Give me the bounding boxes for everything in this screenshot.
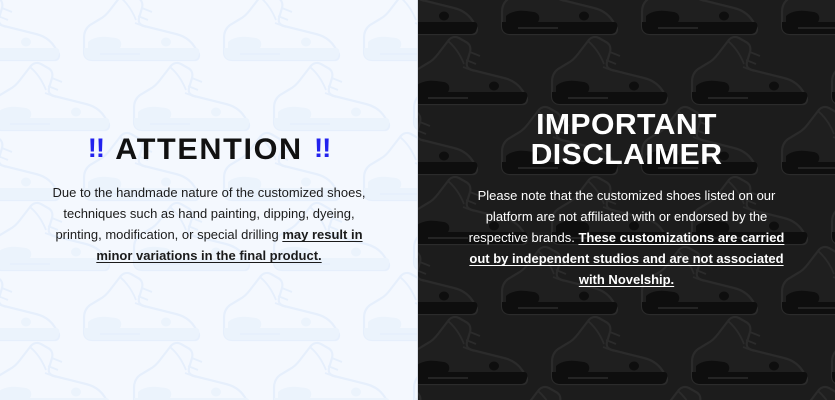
policy-banner: !! ATTENTION !! Due to the handmade natu…: [0, 0, 835, 400]
attention-title-text: ATTENTION: [115, 134, 303, 166]
panel-divider: [417, 0, 418, 400]
disclaimer-panel: IMPORTANT DISCLAIMER Please note that th…: [418, 0, 835, 400]
attention-exclaim-right-icon: !!: [314, 134, 330, 163]
attention-content: !! ATTENTION !! Due to the handmade natu…: [0, 134, 418, 267]
disclaimer-heading: IMPORTANT DISCLAIMER: [418, 110, 835, 171]
attention-heading: !! ATTENTION !!: [0, 134, 418, 166]
attention-body-text: Due to the handmade nature of the custom…: [0, 182, 418, 266]
disclaimer-heading-line-1: IMPORTANT: [418, 110, 835, 141]
disclaimer-content: IMPORTANT DISCLAIMER Please note that th…: [418, 110, 835, 291]
attention-exclaim-left-icon: !!: [88, 134, 104, 163]
disclaimer-body-text: Please note that the customized shoes li…: [418, 185, 835, 290]
attention-panel: !! ATTENTION !! Due to the handmade natu…: [0, 0, 418, 400]
disclaimer-heading-line-2: DISCLAIMER: [418, 140, 835, 171]
